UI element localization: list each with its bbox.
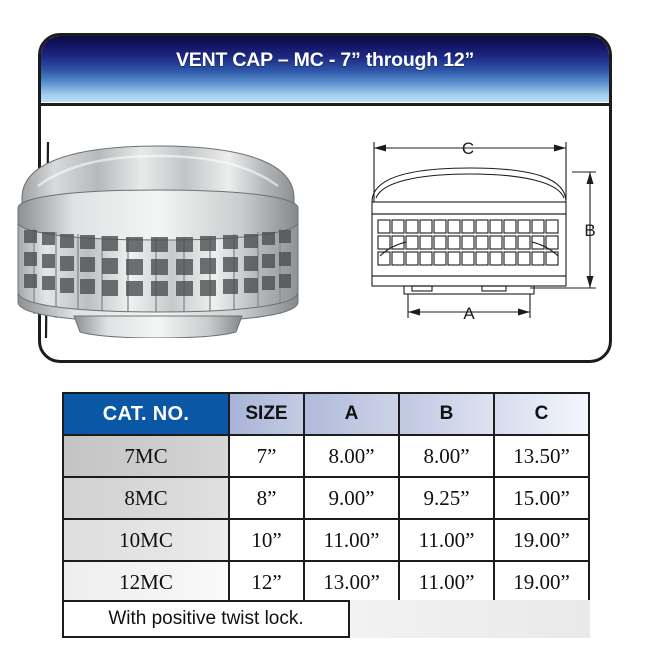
- column-header-b: B: [399, 393, 494, 435]
- cell-cat-no: 12MC: [63, 561, 229, 603]
- cell-a: 8.00”: [304, 435, 399, 477]
- table-row: 12MC 12” 13.00” 11.00” 19.00”: [63, 561, 589, 603]
- cell-b: 11.00”: [399, 561, 494, 603]
- footnote-twist-lock: With positive twist lock.: [62, 600, 350, 638]
- page-title: VENT CAP – MC - 7” through 12”: [41, 49, 609, 72]
- cell-a: 11.00”: [304, 519, 399, 561]
- column-header-a: A: [304, 393, 399, 435]
- dimension-label-b: B: [584, 221, 595, 240]
- cell-a: 9.00”: [304, 477, 399, 519]
- vent-cap-photo-graphic: [8, 142, 308, 338]
- table-header-row: CAT. NO. SIZE A B C: [63, 393, 589, 435]
- dimension-drawing-graphic: C B A: [358, 128, 612, 333]
- title-banner: VENT CAP – MC - 7” through 12”: [41, 36, 609, 102]
- specifications-table: CAT. NO. SIZE A B C 7MC 7” 8.00” 8.00” 1…: [62, 392, 590, 604]
- column-header-size: SIZE: [229, 393, 304, 435]
- vent-cap-product-photo: [8, 142, 308, 338]
- cell-size: 10”: [229, 519, 304, 561]
- cell-cat-no: 7MC: [63, 435, 229, 477]
- dimension-label-c: C: [462, 139, 474, 158]
- cell-cat-no: 10MC: [63, 519, 229, 561]
- cell-size: 7”: [229, 435, 304, 477]
- cell-a: 13.00”: [304, 561, 399, 603]
- cell-c: 19.00”: [494, 561, 589, 603]
- cell-c: 15.00”: [494, 477, 589, 519]
- column-header-cat-no: CAT. NO.: [63, 393, 229, 435]
- dimension-label-a: A: [463, 304, 475, 323]
- cell-b: 8.00”: [399, 435, 494, 477]
- cell-b: 11.00”: [399, 519, 494, 561]
- column-header-c: C: [494, 393, 589, 435]
- cell-size: 12”: [229, 561, 304, 603]
- cell-cat-no: 8MC: [63, 477, 229, 519]
- vent-cap-dimension-drawing: C B A: [358, 128, 612, 333]
- table-row: 8MC 8” 9.00” 9.25” 15.00”: [63, 477, 589, 519]
- title-underline-divider: [41, 103, 609, 106]
- cell-b: 9.25”: [399, 477, 494, 519]
- cell-c: 19.00”: [494, 519, 589, 561]
- cell-size: 8”: [229, 477, 304, 519]
- table-row: 7MC 7” 8.00” 8.00” 13.50”: [63, 435, 589, 477]
- cell-c: 13.50”: [494, 435, 589, 477]
- table-row: 10MC 10” 11.00” 11.00” 19.00”: [63, 519, 589, 561]
